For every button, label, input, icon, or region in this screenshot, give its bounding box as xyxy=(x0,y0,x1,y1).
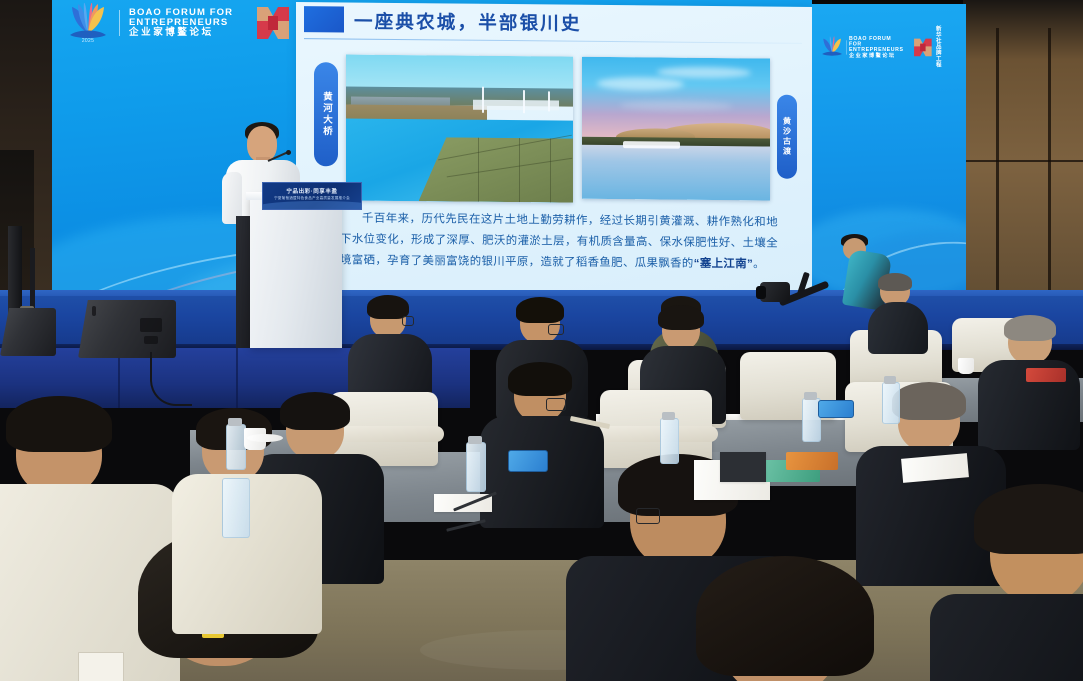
podium-sign-main: 宁品出彩·同享丰盈 xyxy=(263,187,361,195)
water-bottle[interactable] xyxy=(882,382,900,424)
water-bottle[interactable] xyxy=(226,424,246,470)
bfe-shell-logo-icon: 2025 xyxy=(66,3,110,43)
bridge-pylon xyxy=(482,86,484,112)
smartphone[interactable] xyxy=(508,450,548,472)
xinhua-wordmark: 新华社 品牌工程 xyxy=(936,26,942,68)
bfe-wordmark: BOAO FORUM FOR ENTREPRENEURS 企业家博鳌论坛 xyxy=(849,36,904,58)
sign-wave-graphic xyxy=(262,201,362,210)
bottle-cap[interactable] xyxy=(804,392,817,400)
speaker-grill xyxy=(140,318,162,332)
water-bottle[interactable] xyxy=(660,418,679,464)
person-hair xyxy=(280,392,350,430)
wall-seam xyxy=(996,28,999,328)
camera-lens-icon xyxy=(756,286,766,299)
wall-seam xyxy=(963,160,1083,162)
speaker-grill xyxy=(144,336,158,344)
slide-photo-yellow-river-bridge xyxy=(346,54,573,202)
slide-body-text: 千百年来，历代先民在这片土地上勤劳耕作，经过长期引黄灌溉、耕作熟化和地下水位变化… xyxy=(340,208,778,275)
smartphone[interactable] xyxy=(818,400,854,418)
person-hair xyxy=(696,556,874,676)
field-line xyxy=(519,138,520,202)
xinhua-x-logo-icon xyxy=(254,4,292,42)
field-line xyxy=(478,137,479,201)
conference-photo: 2025 BOAO FORUM FOR ENTREPRENEURS 企业家博鳌论… xyxy=(0,0,1083,681)
slide-body-highlight: “塞上江南” xyxy=(694,258,753,271)
eyeglasses xyxy=(402,316,414,326)
tea-cup[interactable] xyxy=(958,358,974,374)
podium xyxy=(250,196,342,348)
bfe-cn-line: 企业家博鳌论坛 xyxy=(129,28,233,38)
microphone-head-icon xyxy=(286,150,291,155)
photo-water xyxy=(582,145,770,201)
led-wall-secondary: BOAO FORUM FOR ENTREPRENEURS 企业家博鳌论坛 新华社 xyxy=(812,4,966,300)
eyeglasses xyxy=(546,398,566,411)
field-line xyxy=(550,138,551,202)
bfe-cn-line: 企业家博鳌论坛 xyxy=(849,53,904,58)
photo-caption-left: 黄河大桥 xyxy=(314,62,338,166)
bottle-cap[interactable] xyxy=(884,376,896,384)
photo-caption-right: 黄沙古渡 xyxy=(777,95,797,179)
person-hair xyxy=(6,396,112,452)
bottle-cap[interactable] xyxy=(468,436,482,444)
speaker-cable xyxy=(150,352,192,406)
person-hair xyxy=(516,297,564,323)
person-hair xyxy=(878,273,912,291)
water-bottle[interactable] xyxy=(222,478,250,538)
tea-cup[interactable] xyxy=(247,434,283,442)
bottle-cap[interactable] xyxy=(662,412,675,420)
bridge-pylon xyxy=(523,90,525,113)
presentation-slide: 一座典农城，半部银川史 xyxy=(296,2,812,300)
person-hair xyxy=(658,305,704,330)
bfe-wordmark: BOAO FORUM FOR ENTREPRENEURS 企业家博鳌论坛 xyxy=(129,8,233,39)
person-torso xyxy=(930,594,1083,681)
wall-right-wood xyxy=(963,0,1083,330)
person-torso xyxy=(868,302,928,354)
cloud xyxy=(597,77,683,91)
xinhua-brand-block: 新华社 品牌工程 xyxy=(912,26,942,68)
person-torso xyxy=(480,416,604,528)
person-hair xyxy=(892,382,966,420)
booklet[interactable] xyxy=(786,452,838,470)
eyeglasses xyxy=(548,324,564,335)
booklet[interactable] xyxy=(1026,368,1066,382)
brand-header-secondary: BOAO FORUM FOR ENTREPRENEURS 企业家博鳌论坛 新华社 xyxy=(820,26,942,68)
podium-sign-sub: 宁夏葡萄酒暨特色食品产业高质量发展推介会 xyxy=(263,196,361,201)
xinhua-cn-line2: 品牌工程 xyxy=(936,44,942,68)
notepad[interactable] xyxy=(720,452,766,482)
xinhua-cn-line1: 新华社 xyxy=(936,26,942,44)
speaker-port xyxy=(92,306,96,316)
bfe-shell-logo-icon xyxy=(820,36,844,58)
boats xyxy=(623,141,679,149)
bfe-en-line1: BOAO FORUM FOR xyxy=(849,36,904,47)
person-hair xyxy=(974,484,1083,554)
slide-title-accent-block xyxy=(304,6,344,32)
name-badge xyxy=(78,652,124,681)
water-bottle[interactable] xyxy=(466,442,486,492)
xinhua-x-logo-icon xyxy=(912,37,933,58)
slide-body-part2: 。 xyxy=(753,259,765,271)
logo-divider xyxy=(119,10,120,36)
bottle-cap[interactable] xyxy=(228,418,242,426)
person-hair xyxy=(1004,315,1056,341)
wall-seam xyxy=(1048,28,1051,328)
bfe-en-line2: ENTREPRENEURS xyxy=(129,18,233,28)
chair-armrest xyxy=(592,426,718,442)
bridge-pylon xyxy=(548,91,550,111)
bridge-deck xyxy=(473,99,559,110)
slide-title: 一座典农城，半部银川史 xyxy=(354,8,582,36)
slide-photo-huangsha-gudu xyxy=(582,57,770,201)
stage-monitor-speaker xyxy=(0,308,56,356)
eyeglasses xyxy=(636,508,660,524)
logo-year: 2025 xyxy=(66,38,110,44)
person-hair xyxy=(508,362,572,396)
skirt-seam xyxy=(236,348,238,408)
podium-signage: 宁品出彩·同享丰盈 宁夏葡萄酒暨特色食品产业高质量发展推介会 xyxy=(262,182,362,210)
slide-title-rule xyxy=(304,38,802,44)
